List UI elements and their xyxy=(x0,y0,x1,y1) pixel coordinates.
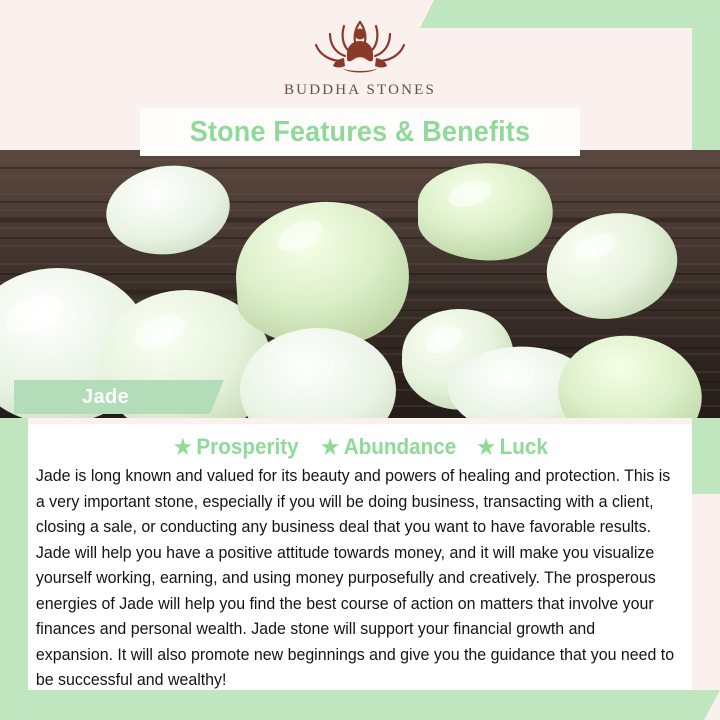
stone-name-badge: Jade xyxy=(14,380,224,414)
stone-benefits-poster: BUDDHA STONES xyxy=(0,0,720,720)
stone-photo xyxy=(0,150,720,418)
star-icon: ★ xyxy=(321,437,339,458)
title-banner: Stone Features & Benefits xyxy=(140,108,580,156)
keyword-abundance: ★ Abundance xyxy=(321,434,456,460)
star-icon: ★ xyxy=(174,437,192,458)
stone-photo-illustration xyxy=(0,150,720,418)
stone-description: Jade is long known and valued for its be… xyxy=(28,462,682,694)
keyword-prosperity: ★ Prosperity xyxy=(174,434,299,460)
keyword-label: Luck xyxy=(499,434,547,460)
content-panel: ★ Prosperity ★ Abundance ★ Luck Jade is … xyxy=(28,424,692,690)
page-title: Stone Features & Benefits xyxy=(190,116,530,149)
brand-logo: BUDDHA STONES xyxy=(0,14,720,99)
keyword-label: Abundance xyxy=(344,434,457,460)
star-icon: ★ xyxy=(477,437,495,458)
keyword-luck: ★ Luck xyxy=(477,434,548,460)
brand-name: BUDDHA STONES xyxy=(284,82,436,99)
stone-name-label: Jade xyxy=(82,386,129,409)
bottom-green-band xyxy=(0,690,720,720)
keyword-label: Prosperity xyxy=(197,434,299,460)
lotus-meditation-icon xyxy=(300,14,420,80)
keyword-list: ★ Prosperity ★ Abundance ★ Luck xyxy=(28,424,692,462)
